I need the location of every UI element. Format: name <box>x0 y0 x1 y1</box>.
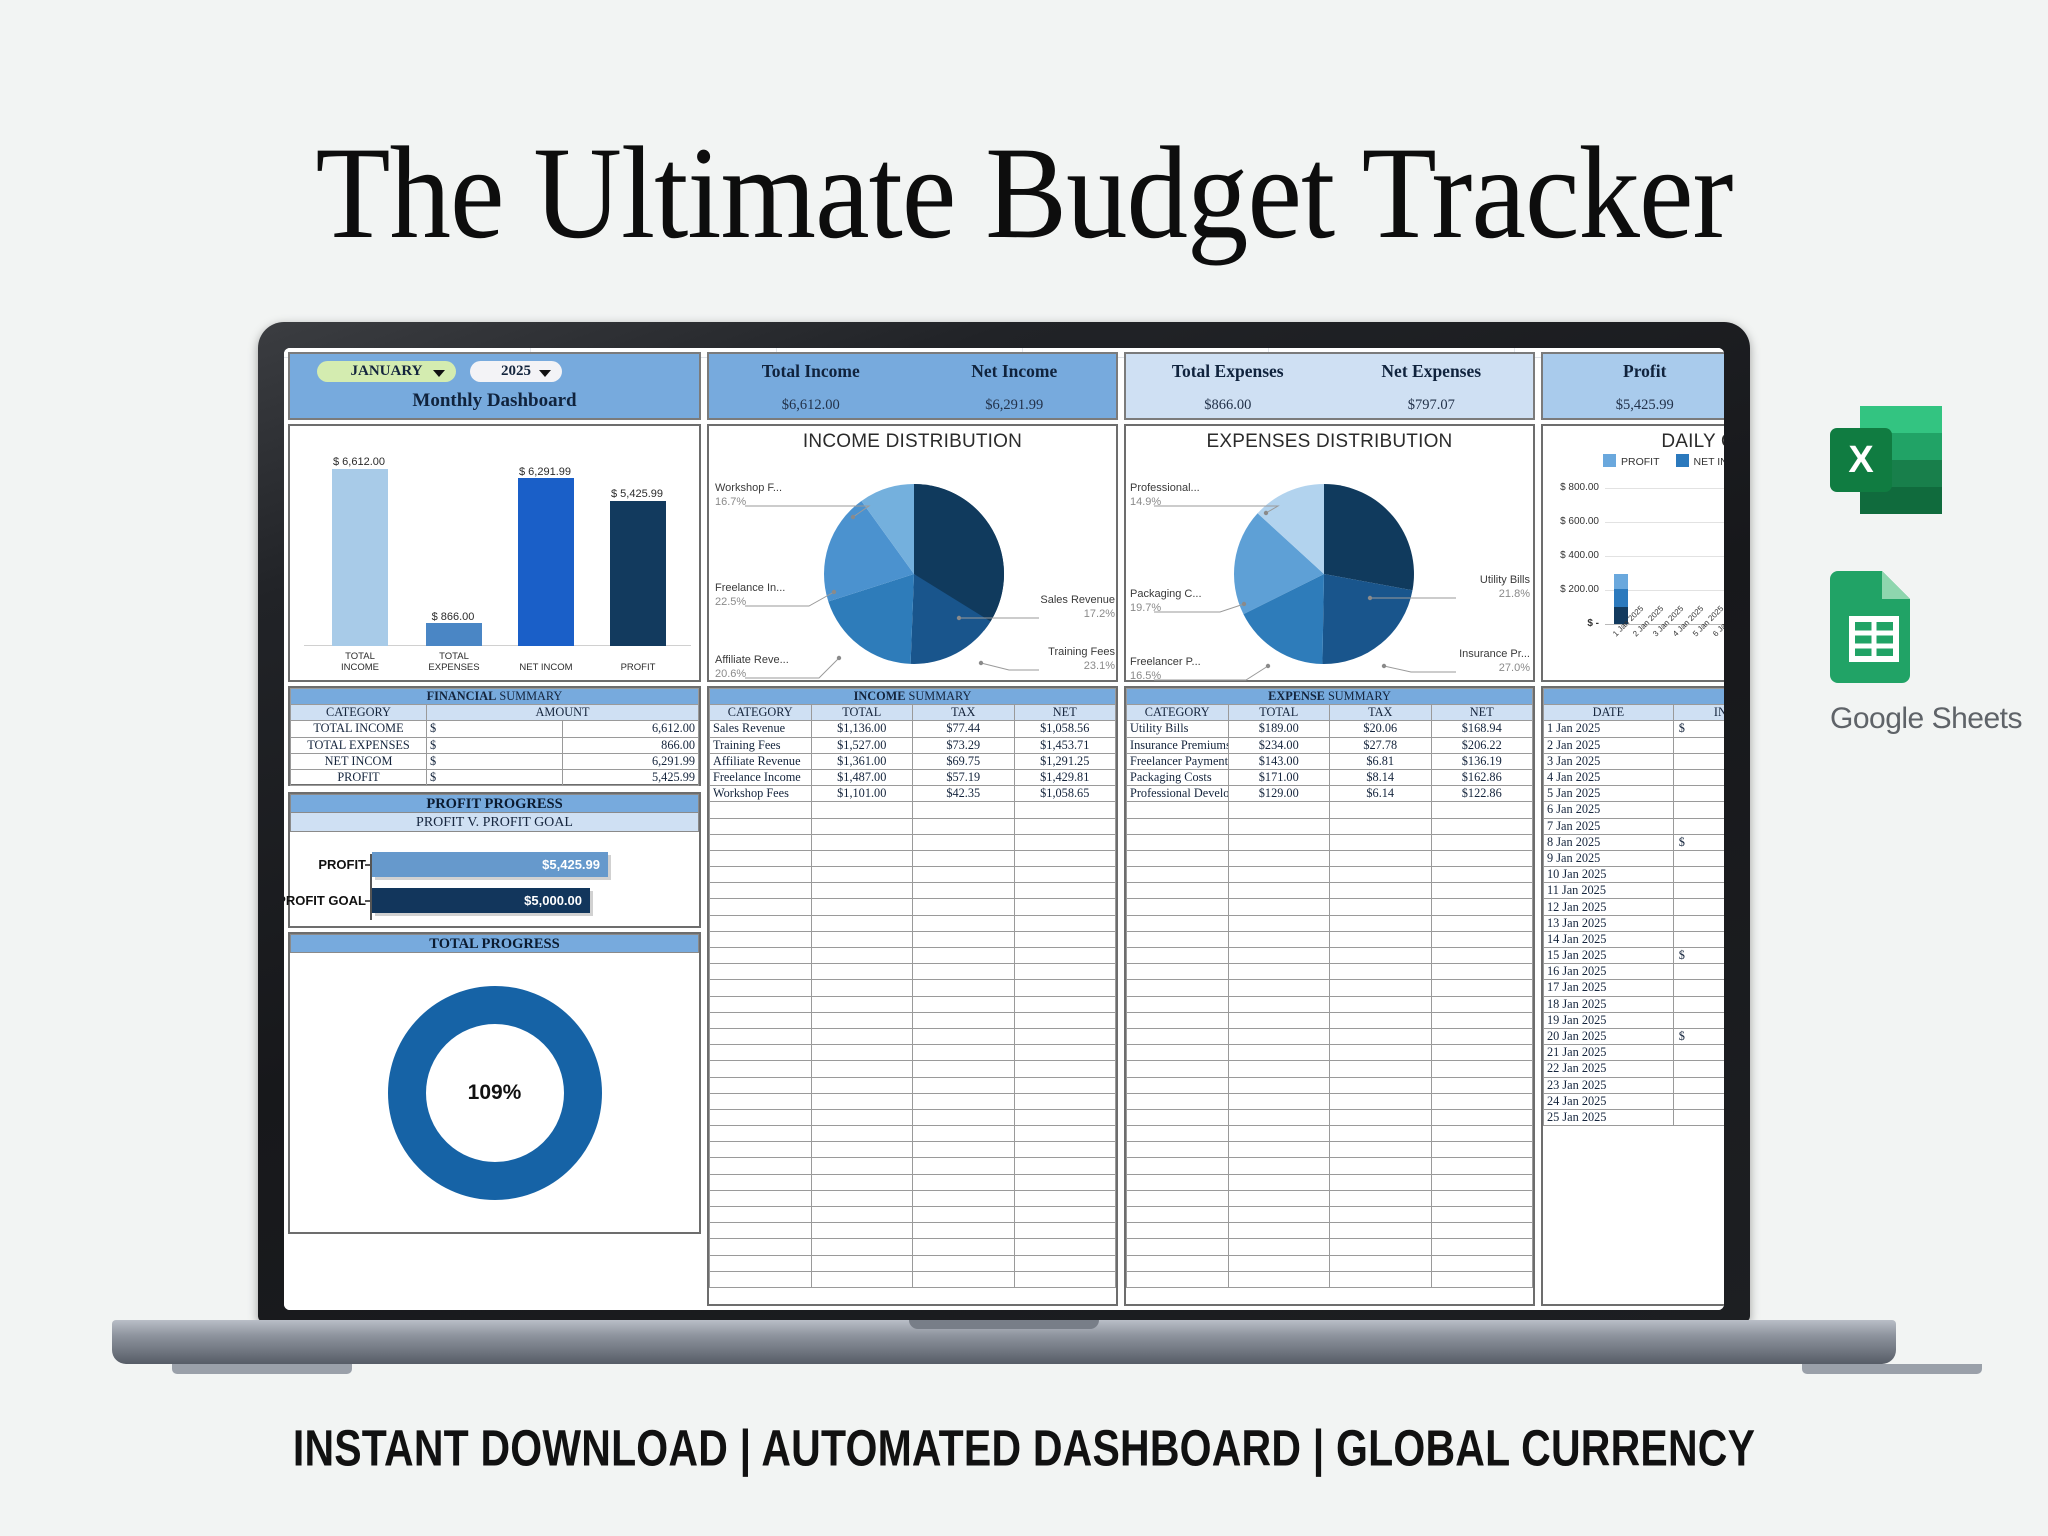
table-row: 12 Jan 2025 <box>1544 899 1725 915</box>
kpi-net-income-label: Net Income <box>913 361 1117 382</box>
progress-bar-profit: $5,425.99 <box>372 852 608 877</box>
table-header-row: DATE INCOME EXPENSES NET <box>1544 705 1725 721</box>
table-row: 3 Jan 2025 <box>1544 753 1725 769</box>
legend-item-net-income: NET INCOME <box>1676 454 1725 468</box>
kpi-net-expenses-value: $797.07 <box>1330 397 1534 414</box>
kpi-total-expenses-value: $866.00 <box>1126 397 1330 414</box>
daily-summary-table: DAILY SUMMARY DATE INCOME EXPENSES NET 1… <box>1543 688 1724 1126</box>
table-row <box>710 1190 1116 1206</box>
table-row <box>1127 1126 1533 1142</box>
laptop-foot-right <box>1802 1364 1982 1374</box>
bar-total-expenses <box>426 623 482 646</box>
legend-item-profit: PROFIT <box>1603 454 1660 468</box>
dashboard-subtitle: Monthly Dashboard <box>290 390 699 412</box>
daily-date-cell: 9 Jan 2025 <box>1544 850 1674 866</box>
bar-label-profit: $ 5,425.99 <box>592 488 682 500</box>
table-row: Training Fees$1,527.00$73.29$1,453.71 <box>710 737 1116 753</box>
daily-date-cell: 23 Jan 2025 <box>1544 1077 1674 1093</box>
kpi-profit-card: Profit Profit Margin $5,425.99 82.06% <box>1541 352 1724 420</box>
table-row <box>1127 1045 1533 1061</box>
table-row <box>710 948 1116 964</box>
income-slice-pct-3: 22.5% <box>715 596 855 610</box>
bar-label-total-income: $ 6,612.00 <box>314 456 404 468</box>
profit-progress-panel: PROFIT PROGRESS PROFIT V. PROFIT GOAL PR… <box>288 792 701 928</box>
kpi-net-expenses-label: Net Expenses <box>1330 361 1534 382</box>
table-row: Sales Revenue$1,136.00$77.44$1,058.56 <box>710 721 1116 737</box>
table-row <box>710 1142 1116 1158</box>
table-row: 20 Jan 2025$160.00$37.00$ <box>1544 1028 1725 1044</box>
laptop-base <box>112 1320 1896 1364</box>
year-dropdown-label: 2025 <box>501 363 531 380</box>
table-row <box>1127 899 1533 915</box>
table-row <box>710 931 1116 947</box>
table-row: 11 Jan 2025 <box>1544 883 1725 899</box>
table-row <box>710 1158 1116 1174</box>
table-row <box>1127 964 1533 980</box>
table-row <box>1127 1239 1533 1255</box>
table-header-row: CATEGORY TOTAL TAX NET <box>710 705 1116 721</box>
expense-slice-label-0: Utility Bills <box>1480 574 1530 586</box>
daily-income-cell <box>1673 867 1724 883</box>
table-row: Affiliate Revenue$1,361.00$69.75$1,291.2… <box>710 753 1116 769</box>
table-row <box>710 1271 1116 1287</box>
page-title: The Ultimate Budget Tracker <box>72 126 1977 261</box>
table-row <box>710 1109 1116 1125</box>
table-row <box>1127 948 1533 964</box>
daily-income-cell <box>1673 980 1724 996</box>
month-dropdown-label: JANUARY <box>351 363 423 380</box>
kpi-total-income-value: $6,612.00 <box>709 397 913 414</box>
table-row: NET INCOM $ 6,291.99 <box>291 753 699 769</box>
table-row <box>1127 1028 1533 1044</box>
financial-summary-table: FINANCIAL SUMMARY CATEGORY AMOUNT TOTAL … <box>290 688 699 786</box>
table-row: 16 Jan 2025 <box>1544 964 1725 980</box>
table-row: 18 Jan 2025 <box>1544 996 1725 1012</box>
excel-icon: X <box>1830 406 1942 514</box>
expense-slice-pct-3: 19.7% <box>1130 602 1280 616</box>
table-row <box>1127 1190 1533 1206</box>
table-row <box>1127 1174 1533 1190</box>
income-slice-pct-4: 16.7% <box>715 496 855 510</box>
daily-chart-title: DAILY OVERVIEW <box>1603 431 1724 453</box>
table-row <box>710 1061 1116 1077</box>
daily-date-cell: 17 Jan 2025 <box>1544 980 1674 996</box>
daily-date-cell: 15 Jan 2025 <box>1544 948 1674 964</box>
table-row <box>1127 980 1533 996</box>
bar-total-income <box>332 469 388 646</box>
daily-date-cell: 25 Jan 2025 <box>1544 1109 1674 1125</box>
table-row <box>1127 867 1533 883</box>
daily-date-cell: 1 Jan 2025 <box>1544 721 1674 737</box>
expense-summary-table: EXPENSE SUMMARY CATEGORY TOTAL TAX NET U… <box>1126 688 1533 1288</box>
y-tick-800: $ 800.00 <box>1543 482 1599 493</box>
expense-slice-pct-1: 27.0% <box>1378 662 1530 676</box>
daily-income-cell <box>1673 883 1724 899</box>
table-row: 23 Jan 2025 <box>1544 1077 1725 1093</box>
daily-date-cell: 13 Jan 2025 <box>1544 915 1674 931</box>
table-header-row: CATEGORY AMOUNT <box>291 705 699 721</box>
table-row: 1 Jan 2025$102.00$35.00$ <box>1544 721 1725 737</box>
income-summary-title: INCOME SUMMARY <box>710 689 1116 705</box>
table-row: 10 Jan 2025 <box>1544 867 1725 883</box>
table-row <box>710 1093 1116 1109</box>
table-row: 8 Jan 2025$216.00$13.00$ <box>1544 834 1725 850</box>
daily-income-cell <box>1673 1012 1724 1028</box>
table-row <box>1127 883 1533 899</box>
table-row: Utility Bills$189.00$20.06$168.94 <box>1127 721 1533 737</box>
table-row <box>1127 1077 1533 1093</box>
kpi-total-expenses-label: Total Expenses <box>1126 361 1330 382</box>
daily-income-cell <box>1673 753 1724 769</box>
table-row: TOTAL EXPENSES $ 866.00 <box>291 737 699 753</box>
laptop-lid: JANUARY 2025 Monthly Dashboard Total Inc… <box>258 322 1750 1322</box>
chevron-down-icon <box>433 370 445 377</box>
expense-slice-label-2: Freelancer P... <box>1130 656 1201 668</box>
daily-date-cell: 21 Jan 2025 <box>1544 1045 1674 1061</box>
table-row: 24 Jan 2025 <box>1544 1093 1725 1109</box>
table-row: 4 Jan 2025 <box>1544 769 1725 785</box>
progress-row-profit: PROFIT $5,425.99 <box>292 852 697 879</box>
table-row: 7 Jan 2025 <box>1544 818 1725 834</box>
daily-date-cell: 16 Jan 2025 <box>1544 964 1674 980</box>
daily-income-cell <box>1673 769 1724 785</box>
daily-summary-panel: DAILY SUMMARY DATE INCOME EXPENSES NET 1… <box>1541 686 1724 1306</box>
bar-cat-total-expenses: TOTALEXPENSES <box>414 652 494 674</box>
daily-date-cell: 2 Jan 2025 <box>1544 737 1674 753</box>
table-row: 5 Jan 2025 <box>1544 786 1725 802</box>
table-row <box>1127 931 1533 947</box>
income-distribution-chart: INCOME DISTRIBUTION <box>707 424 1118 682</box>
table-row <box>710 1174 1116 1190</box>
table-row <box>710 1207 1116 1223</box>
table-row: 6 Jan 2025 <box>1544 802 1725 818</box>
daily-date-cell: 19 Jan 2025 <box>1544 1012 1674 1028</box>
daily-date-cell: 7 Jan 2025 <box>1544 818 1674 834</box>
table-row: Insurance Premiums$234.00$27.78$206.22 <box>1127 737 1533 753</box>
table-row <box>1127 1109 1533 1125</box>
income-slice-label-1: Training Fees <box>1048 646 1115 658</box>
google-sheets-icon <box>1830 571 1918 683</box>
income-slice-label-3: Freelance In... <box>715 582 785 594</box>
y-tick-200: $ 200.00 <box>1543 584 1599 595</box>
profit-progress-subtitle: PROFIT V. PROFIT GOAL <box>290 813 699 832</box>
financial-summary-panel: FINANCIAL SUMMARY CATEGORY AMOUNT TOTAL … <box>288 686 701 786</box>
table-row: 14 Jan 2025 <box>1544 931 1725 947</box>
expense-summary-title: EXPENSE SUMMARY <box>1127 689 1533 705</box>
daily-date-cell: 11 Jan 2025 <box>1544 883 1674 899</box>
daily-date-cell: 8 Jan 2025 <box>1544 834 1674 850</box>
table-row: 25 Jan 2025 <box>1544 1109 1725 1125</box>
table-row <box>1127 850 1533 866</box>
col-category: CATEGORY <box>291 705 427 721</box>
expenses-distribution-chart: EXPENSES DISTRIBUTION <box>1124 424 1535 682</box>
table-row <box>710 1126 1116 1142</box>
table-row <box>1127 1255 1533 1271</box>
income-slice-label-2: Affiliate Reve... <box>715 654 789 666</box>
table-row <box>1127 834 1533 850</box>
col-amount: AMOUNT <box>427 705 699 721</box>
table-row <box>710 834 1116 850</box>
table-row <box>1127 915 1533 931</box>
kpi-net-income-value: $6,291.99 <box>913 397 1117 414</box>
daily-date-cell: 20 Jan 2025 <box>1544 1028 1674 1044</box>
table-row <box>710 1223 1116 1239</box>
kpi-profit-value: $5,425.99 <box>1543 397 1724 414</box>
daily-income-cell <box>1673 996 1724 1012</box>
table-row <box>710 1028 1116 1044</box>
expense-slice-label-4: Professional... <box>1130 482 1200 494</box>
expense-slice-pct-2: 16.5% <box>1130 670 1280 684</box>
daily-date-cell: 4 Jan 2025 <box>1544 769 1674 785</box>
daily-date-cell: 14 Jan 2025 <box>1544 931 1674 947</box>
table-row <box>710 850 1116 866</box>
daily-summary-title: DAILY SUMMARY <box>1544 689 1725 705</box>
table-row <box>710 996 1116 1012</box>
table-row <box>710 1077 1116 1093</box>
daily-income-cell <box>1673 1077 1724 1093</box>
table-row <box>710 1255 1116 1271</box>
year-dropdown[interactable]: 2025 <box>470 361 562 382</box>
y-tick-400: $ 400.00 <box>1543 550 1599 561</box>
daily-income-cell <box>1673 786 1724 802</box>
income-summary-table: INCOME SUMMARY CATEGORY TOTAL TAX NET Sa… <box>709 688 1116 1288</box>
bar-label-net-income: $ 6,291.99 <box>500 466 590 478</box>
progress-bar-profit-goal: $5,000.00 <box>372 888 590 913</box>
table-row: 9 Jan 2025 <box>1544 850 1725 866</box>
daily-income-cell: $160.00 <box>1673 1028 1724 1044</box>
daily-income-cell <box>1673 1109 1724 1125</box>
svg-text:X: X <box>1848 439 1874 481</box>
daily-income-cell <box>1673 737 1724 753</box>
footer-tagline: INSTANT DOWNLOAD | AUTOMATED DASHBOARD |… <box>0 1419 2048 1478</box>
y-tick-600: $ 600.00 <box>1543 516 1599 527</box>
table-row: Packaging Costs$171.00$8.14$162.86 <box>1127 769 1533 785</box>
daily-date-cell: 12 Jan 2025 <box>1544 899 1674 915</box>
month-year-selector[interactable]: JANUARY 2025 Monthly Dashboard <box>288 352 701 420</box>
table-row: Freelance Income$1,487.00$57.19$1,429.81 <box>710 769 1116 785</box>
expense-slice-label-3: Packaging C... <box>1130 588 1202 600</box>
total-progress-donut-area: 109% <box>290 953 699 1232</box>
table-row <box>1127 818 1533 834</box>
table-row <box>710 1239 1116 1255</box>
profit-progress-title: PROFIT PROGRESS <box>290 794 699 813</box>
platform-logos: X Google Sheets <box>1830 406 2020 736</box>
chevron-down-icon <box>539 370 551 377</box>
daily-income-cell <box>1673 899 1724 915</box>
daily-income-cell <box>1673 964 1724 980</box>
bar-cat-net-income: NET INCOM <box>506 663 586 674</box>
income-slice-pct-1: 23.1% <box>967 660 1115 674</box>
daily-income-cell: $217.00 <box>1673 948 1724 964</box>
profit-progress-bars: PROFIT $5,425.99 PROFIT GOAL $5,0 <box>292 850 697 925</box>
laptop-mockup: JANUARY 2025 Monthly Dashboard Total Inc… <box>258 322 1750 1352</box>
daily-income-cell <box>1673 915 1724 931</box>
table-row <box>710 915 1116 931</box>
daily-income-cell <box>1673 802 1724 818</box>
laptop-screen: JANUARY 2025 Monthly Dashboard Total Inc… <box>284 348 1724 1310</box>
expense-slice-pct-4: 14.9% <box>1130 496 1280 510</box>
summary-bar-chart: $ 6,612.00 TOTALINCOME $ 866.00 TOTALEXP… <box>288 424 701 682</box>
daily-income-cell <box>1673 850 1724 866</box>
daily-date-cell: 22 Jan 2025 <box>1544 1061 1674 1077</box>
daily-income-cell <box>1673 931 1724 947</box>
table-row: Professional Developmen$129.00$6.14$122.… <box>1127 786 1533 802</box>
daily-date-cell: 3 Jan 2025 <box>1544 753 1674 769</box>
y-tick-zero: $ - <box>1543 618 1599 629</box>
table-row <box>710 818 1116 834</box>
income-summary-panel: INCOME SUMMARY CATEGORY TOTAL TAX NET Sa… <box>707 686 1118 1306</box>
total-progress-title: TOTAL PROGRESS <box>290 934 699 953</box>
table-row <box>710 867 1116 883</box>
daily-income-cell: $216.00 <box>1673 834 1724 850</box>
bar-profit <box>610 501 666 646</box>
daily-overview-chart: DAILY OVERVIEW PROFIT NET INCOME $ 800.0… <box>1541 424 1724 682</box>
table-row <box>1127 1142 1533 1158</box>
table-row: 15 Jan 2025$217.00$28.00$ <box>1544 948 1725 964</box>
table-row: 2 Jan 2025 <box>1544 737 1725 753</box>
table-row <box>710 964 1116 980</box>
bar-cat-total-income: TOTALINCOME <box>320 652 400 674</box>
table-row <box>710 883 1116 899</box>
bar-cat-profit: PROFIT <box>598 663 678 674</box>
table-row: 17 Jan 2025 <box>1544 980 1725 996</box>
google-sheets-label: Google Sheets <box>1830 702 2020 736</box>
table-row: PROFIT $ 5,425.99 <box>291 769 699 785</box>
table-row <box>710 1012 1116 1028</box>
table-row <box>710 899 1116 915</box>
table-row <box>1127 1012 1533 1028</box>
table-row <box>710 802 1116 818</box>
daily-date-cell: 18 Jan 2025 <box>1544 996 1674 1012</box>
table-row: 19 Jan 2025 <box>1544 1012 1725 1028</box>
table-header-row: CATEGORY TOTAL TAX NET <box>1127 705 1533 721</box>
income-slice-pct-0: 17.2% <box>967 608 1115 622</box>
kpi-expenses-card: Total Expenses Net Expenses $866.00 $797… <box>1124 352 1535 420</box>
expense-summary-panel: EXPENSE SUMMARY CATEGORY TOTAL TAX NET U… <box>1124 686 1535 1306</box>
table-row <box>1127 802 1533 818</box>
bar-label-total-expenses: $ 866.00 <box>408 611 498 623</box>
table-row <box>1127 1271 1533 1287</box>
table-row <box>1127 996 1533 1012</box>
table-row: 21 Jan 2025 <box>1544 1045 1725 1061</box>
table-row: Workshop Fees$1,101.00$42.35$1,058.65 <box>710 786 1116 802</box>
laptop-foot-left <box>172 1364 352 1374</box>
table-row <box>1127 1061 1533 1077</box>
daily-date-cell: 10 Jan 2025 <box>1544 867 1674 883</box>
daily-income-cell <box>1673 1061 1724 1077</box>
poster: The Ultimate Budget Tracker JANUARY <box>0 0 2048 1536</box>
daily-chart-legend: PROFIT NET INCOME <box>1603 454 1724 468</box>
daily-date-cell: 6 Jan 2025 <box>1544 802 1674 818</box>
income-slice-label-0: Sales Revenue <box>1040 594 1115 606</box>
table-row <box>710 1045 1116 1061</box>
table-row <box>1127 1093 1533 1109</box>
total-progress-panel: TOTAL PROGRESS 109% <box>288 932 701 1234</box>
table-row <box>1127 1223 1533 1239</box>
daily-income-cell: $102.00 <box>1673 721 1724 737</box>
income-slice-label-4: Workshop F... <box>715 482 782 494</box>
daily-income-cell <box>1673 1045 1724 1061</box>
progress-row-profit-goal: PROFIT GOAL $5,000.00 <box>292 888 697 915</box>
daily-date-cell: 24 Jan 2025 <box>1544 1093 1674 1109</box>
table-row <box>710 980 1116 996</box>
daily-income-cell <box>1673 1093 1724 1109</box>
bar-net-income <box>518 478 574 646</box>
expense-slice-label-1: Insurance Pr... <box>1459 648 1530 660</box>
table-row <box>1127 1207 1533 1223</box>
daily-income-cell <box>1673 818 1724 834</box>
daily-date-cell: 5 Jan 2025 <box>1544 786 1674 802</box>
table-row: Freelancer Payments$143.00$6.81$136.19 <box>1127 753 1533 769</box>
table-row <box>1127 1158 1533 1174</box>
month-dropdown[interactable]: JANUARY <box>317 361 456 382</box>
kpi-total-income-label: Total Income <box>709 361 913 382</box>
table-row: TOTAL INCOME $ 6,612.00 <box>291 721 699 737</box>
table-row: 22 Jan 2025 <box>1544 1061 1725 1077</box>
expense-slice-pct-0: 21.8% <box>1378 588 1530 602</box>
donut-percent-label: 109% <box>290 1081 699 1105</box>
financial-summary-title: FINANCIAL SUMMARY <box>291 689 699 705</box>
expenses-pie-svg <box>1126 426 1537 684</box>
kpi-profit-label: Profit <box>1543 361 1724 382</box>
income-slice-pct-2: 20.6% <box>715 668 855 682</box>
kpi-income-card: Total Income Net Income $6,612.00 $6,291… <box>707 352 1118 420</box>
table-row: 13 Jan 2025 <box>1544 915 1725 931</box>
spreadsheet-dashboard: JANUARY 2025 Monthly Dashboard Total Inc… <box>284 348 1724 1310</box>
